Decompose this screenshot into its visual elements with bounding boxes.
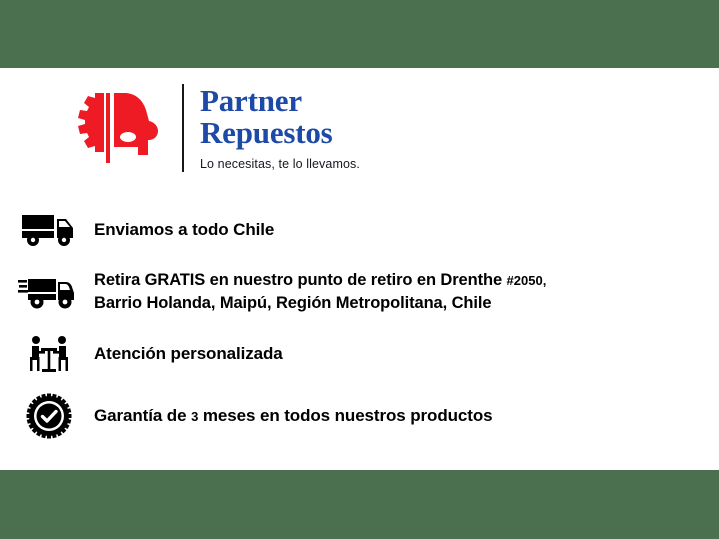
- brand-logo-block: Partner Repuestos Lo necesitas, te lo ll…: [58, 84, 360, 172]
- feature-label-warranty: Garantía de 3 meses en todos nuestros pr…: [94, 405, 492, 427]
- bottom-green-band: [0, 470, 719, 539]
- warranty-text-c: meses en todos nuestros productos: [198, 406, 492, 425]
- brand-tagline: Lo necesitas, te lo llevamos.: [200, 157, 360, 171]
- pickup-line-2-text: Barrio Holanda, Maipú, Región Metropolit…: [94, 294, 491, 312]
- brand-name-line-1: Partner: [200, 85, 360, 117]
- pickup-street-number: #2050,: [507, 273, 547, 288]
- warranty-text-a: Garantía de: [94, 406, 191, 425]
- brand-text-block: Partner Repuestos Lo necesitas, te lo ll…: [200, 85, 360, 171]
- feature-label-shipping: Enviamos a todo Chile: [94, 219, 274, 241]
- feature-row-warranty: Garantía de 3 meses en todos nuestros pr…: [0, 392, 719, 440]
- delivery-truck-icon: [18, 207, 80, 253]
- feature-label-support: Atención personalizada: [94, 343, 283, 365]
- promo-banner: Partner Repuestos Lo necesitas, te lo ll…: [0, 0, 719, 539]
- top-green-band: [0, 0, 719, 68]
- fast-truck-icon: [18, 269, 80, 315]
- feature-row-pickup: Retira GRATIS en nuestro punto de retiro…: [0, 268, 719, 316]
- guarantee-seal-check-icon: [18, 393, 80, 439]
- logo-divider: [182, 84, 184, 172]
- gear-car-logo: [58, 87, 166, 169]
- feature-label-pickup: Retira GRATIS en nuestro punto de retiro…: [94, 269, 546, 315]
- brand-name-line-2: Repuestos: [200, 117, 360, 149]
- pickup-line-1-text: Retira GRATIS en nuestro punto de retiro…: [94, 271, 507, 289]
- feature-row-support: Atención personalizada: [0, 330, 719, 378]
- feature-list: Enviamos a todo Chile: [0, 206, 719, 454]
- feature-row-shipping: Enviamos a todo Chile: [0, 206, 719, 254]
- people-at-table-icon: [18, 331, 80, 377]
- content-area: Partner Repuestos Lo necesitas, te lo ll…: [0, 68, 719, 470]
